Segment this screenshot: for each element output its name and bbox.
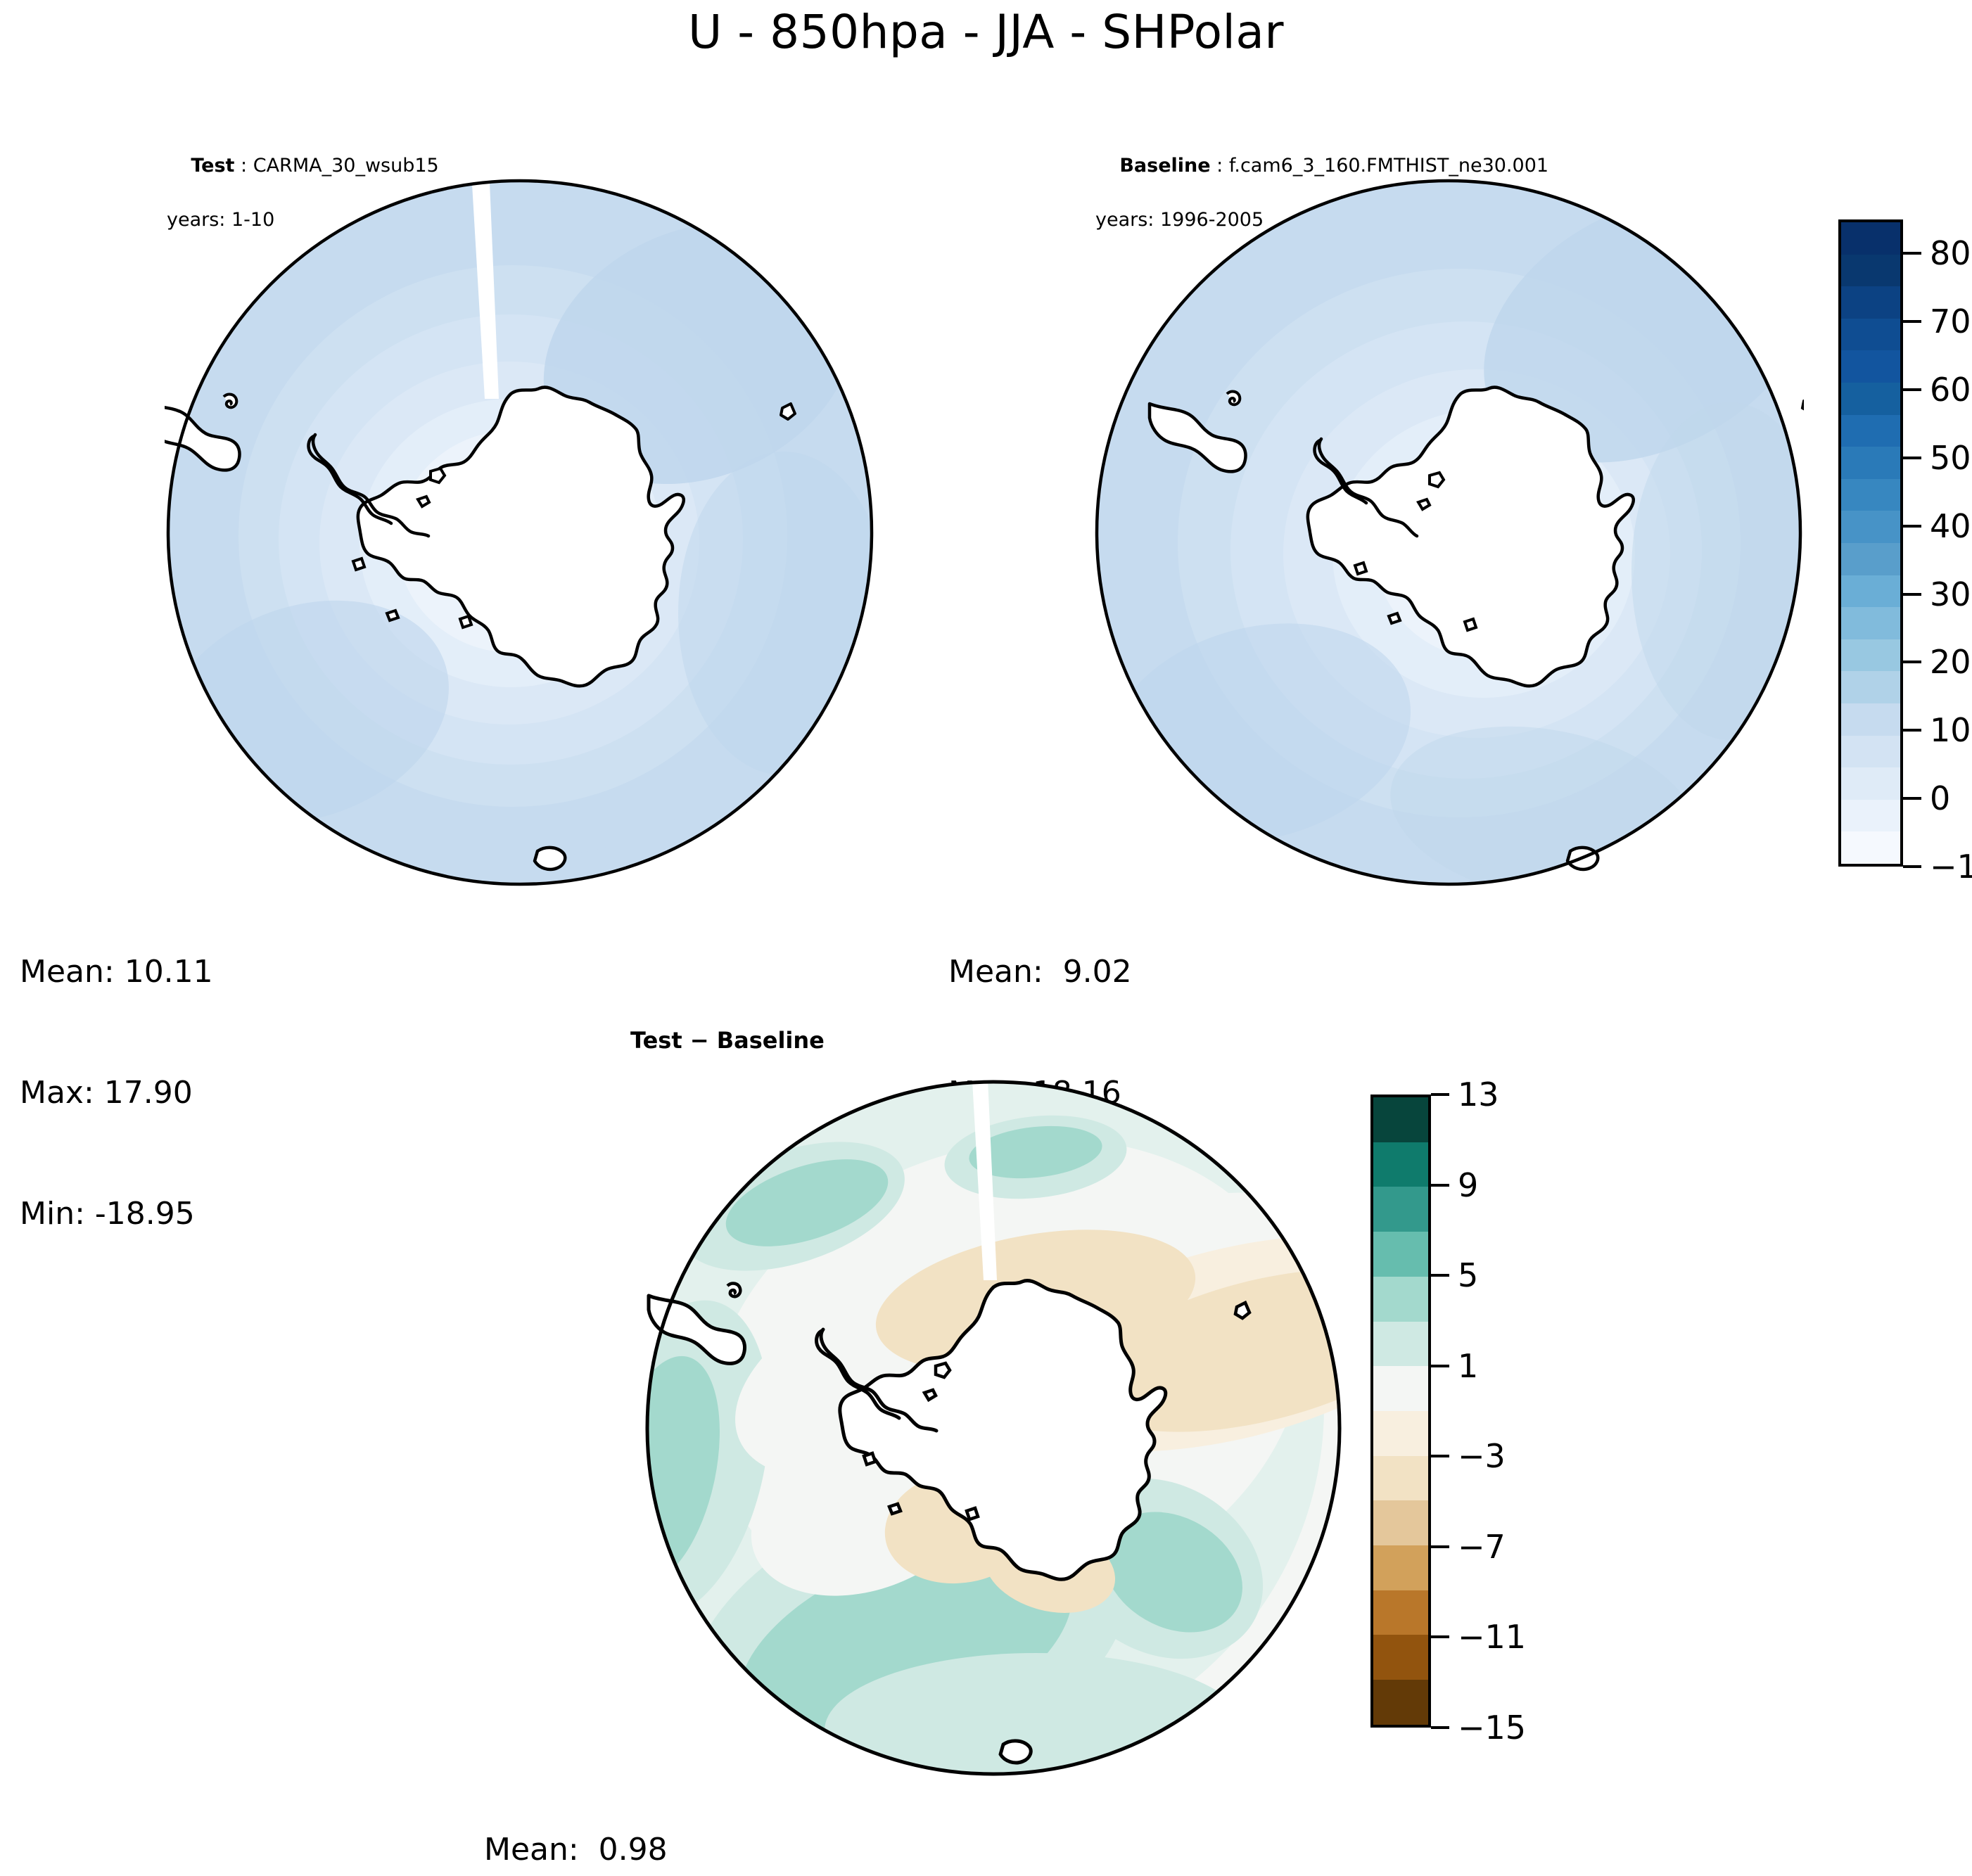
blues-colorbar-tick-label: 50 [1930,442,1971,474]
brbg-colorbar-band [1373,1232,1428,1277]
brbg-colorbar-tick [1431,1635,1449,1638]
blues-colorbar-band [1841,736,1900,768]
test-map-panel[interactable] [165,177,875,888]
blues-colorbar-tick-label: 60 [1930,374,1971,406]
brbg-colorbar-tick [1431,1726,1449,1729]
blues-colorbar-band [1841,222,1900,255]
test-stat-max: Max: 17.90 [20,1073,213,1113]
blues-colorbar-band [1841,639,1900,672]
test-kind-label: Test [191,155,234,177]
baseline-separator: : [1211,155,1229,177]
blues-colorbar-tick [1903,525,1921,528]
brbg-colorbar-band [1373,1277,1428,1322]
test-stats: Mean: 10.11 Max: 17.90 Min: -18.95 [20,872,213,1314]
brbg-colorbar-band [1373,1187,1428,1232]
blues-colorbar-bar [1838,219,1903,867]
blues-colorbar-band [1841,286,1900,319]
brbg-colorbar-tick-label: −15 [1458,1711,1526,1744]
blues-colorbar-tick [1903,252,1921,255]
blues-colorbar-tick-label: 20 [1930,646,1971,678]
difference-map-panel[interactable] [642,1076,1345,1780]
brbg-colorbar-band [1373,1500,1428,1545]
brbg-colorbar-band [1373,1635,1428,1680]
blues-colorbar-tick-label: 0 [1930,782,1950,815]
blues-colorbar-tick [1903,729,1921,732]
blues-colorbar-tick [1903,661,1921,663]
difference-panel-title: Test − Baseline [630,1027,825,1054]
blues-colorbar-tick-label: 40 [1930,510,1971,542]
brbg-colorbar-tick [1431,1455,1449,1457]
brbg-colorbar-tick-label: −3 [1458,1440,1506,1472]
blues-colorbar[interactable]: 80706050403020100−10 [1838,219,1972,867]
blues-colorbar-tick-label: 80 [1930,237,1971,269]
baseline-stat-mean: Mean: 9.02 [948,952,1132,992]
baseline-map-panel[interactable] [1093,177,1804,888]
baseline-map-svg [1093,177,1804,888]
blues-colorbar-band [1841,703,1900,736]
blues-colorbar-band [1841,255,1900,287]
brbg-colorbar-band [1373,1142,1428,1187]
brbg-colorbar-band [1373,1411,1428,1456]
blues-colorbar-band [1841,767,1900,800]
brbg-colorbar-band [1373,1097,1428,1142]
test-separator: : [234,155,253,177]
brbg-colorbar-tick [1431,1365,1449,1367]
brbg-colorbar-band [1373,1680,1428,1725]
brbg-colorbar-band [1373,1545,1428,1590]
blues-colorbar-tick [1903,320,1921,323]
blues-colorbar-tick-label: 70 [1930,305,1971,338]
blues-colorbar-tick-label: 30 [1930,578,1971,611]
difference-map-svg [642,1076,1345,1780]
blues-colorbar-tick [1903,388,1921,391]
blues-colorbar-band [1841,831,1900,864]
figure-canvas: U - 850hpa - JJA - SHPolar Test : CARMA_… [0,0,1972,1876]
brbg-colorbar-band [1373,1456,1428,1501]
blues-colorbar-band [1841,543,1900,575]
brbg-colorbar-band [1373,1590,1428,1635]
brbg-colorbar[interactable]: 13951−3−7−11−15 [1370,1095,1532,1728]
brbg-colorbar-tick [1431,1093,1449,1096]
blues-colorbar-tick-label: 10 [1930,714,1971,746]
brbg-colorbar-tick-label: 13 [1458,1078,1499,1111]
brbg-colorbar-band [1373,1322,1428,1367]
blues-colorbar-band [1841,479,1900,511]
test-case-name: CARMA_30_wsub15 [253,155,439,177]
brbg-colorbar-band [1373,1366,1428,1411]
blues-colorbar-tick [1903,797,1921,800]
brbg-colorbar-tick [1431,1545,1449,1548]
blues-colorbar-band [1841,383,1900,415]
brbg-colorbar-tick-label: 9 [1458,1169,1478,1201]
blues-colorbar-band [1841,319,1900,351]
blues-colorbar-tick [1903,457,1921,459]
brbg-colorbar-bar [1370,1095,1431,1728]
blues-colorbar-tick-label: −10 [1930,850,1972,883]
brbg-colorbar-tick-label: 5 [1458,1259,1478,1291]
blues-colorbar-band [1841,415,1900,447]
test-stat-min: Min: -18.95 [20,1194,213,1234]
blues-colorbar-tick [1903,865,1921,868]
difference-stats: Mean: 0.98 Max: 7.38 Min: -10.33 [484,1749,668,1876]
brbg-colorbar-tick-label: 1 [1458,1350,1478,1382]
baseline-case-name: f.cam6_3_160.FMTHIST_ne30.001 [1229,155,1548,177]
figure-title: U - 850hpa - JJA - SHPolar [0,6,1972,59]
blues-colorbar-band [1841,671,1900,703]
blues-colorbar-band [1841,511,1900,543]
blues-colorbar-band [1841,447,1900,479]
blues-colorbar-band [1841,607,1900,639]
difference-stat-mean: Mean: 0.98 [484,1830,668,1870]
test-map-svg [165,177,875,888]
brbg-colorbar-tick-label: −11 [1458,1621,1526,1653]
brbg-colorbar-tick-label: −7 [1458,1531,1506,1563]
blues-colorbar-band [1841,800,1900,832]
blues-colorbar-tick [1903,593,1921,596]
test-stat-mean: Mean: 10.11 [20,952,213,992]
baseline-kind-label: Baseline [1119,155,1210,177]
blues-colorbar-band [1841,350,1900,383]
brbg-colorbar-tick [1431,1184,1449,1187]
brbg-colorbar-tick [1431,1274,1449,1277]
blues-colorbar-band [1841,575,1900,608]
